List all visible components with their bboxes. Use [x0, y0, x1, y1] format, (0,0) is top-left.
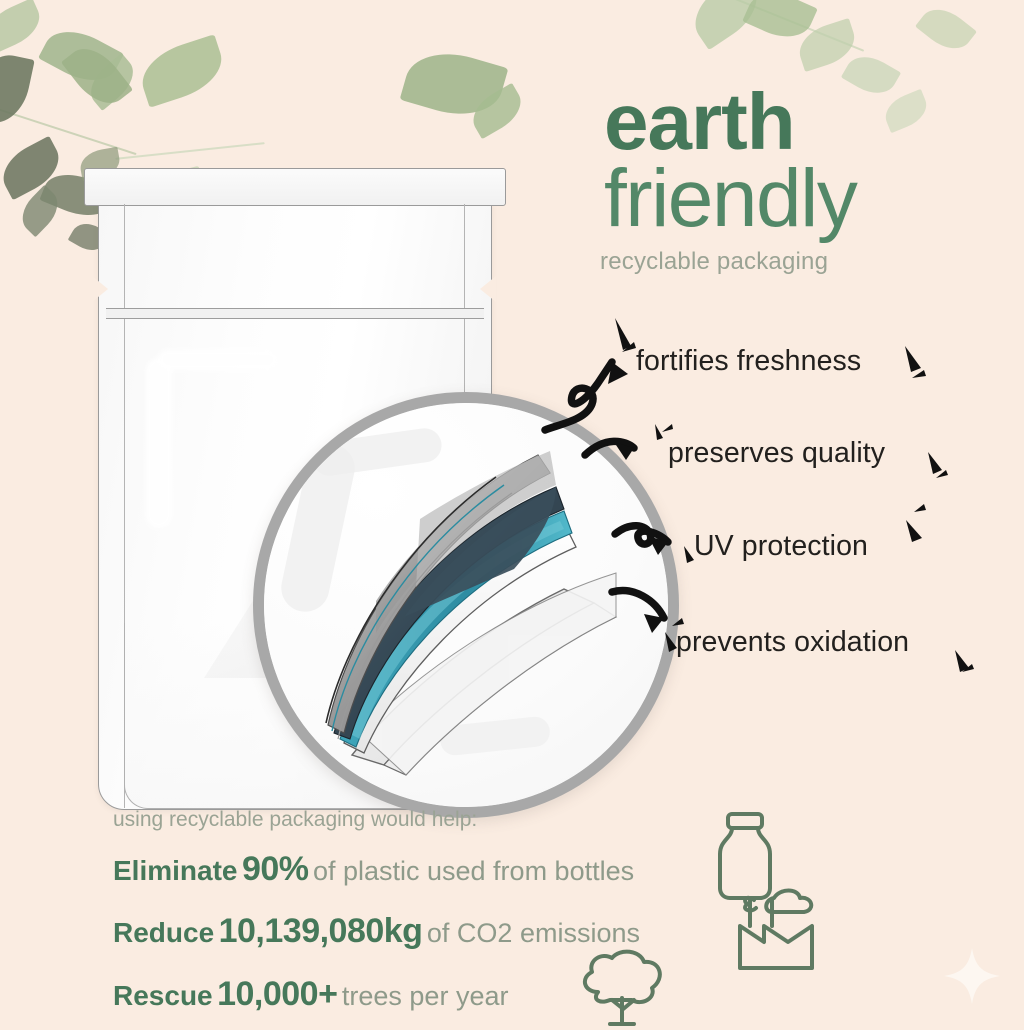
infographic-canvas: earth friendly recyclable packaging: [0, 0, 1024, 1024]
stat-verb: Rescue: [113, 980, 213, 1011]
pouch-zipper-line-top: [106, 308, 484, 309]
feature-label-uv-protection: UV protection: [694, 530, 868, 563]
stat-rest: trees per year: [342, 981, 509, 1011]
stat-value: 90%: [242, 850, 309, 888]
leaf-icon: [915, 0, 977, 58]
headline-friendly: friendly: [604, 158, 856, 240]
stat-rest: of CO2 emissions: [427, 918, 640, 948]
stats-intro: using recyclable packaging would help:: [113, 808, 477, 832]
stat-value: 10,000+: [217, 975, 337, 1013]
leaf-icon: [0, 0, 47, 54]
pouch-top-seal: [84, 168, 506, 206]
tree-icon: [568, 948, 676, 1030]
layer-cross-section-diagram: [264, 403, 668, 807]
leaf-icon: [880, 89, 932, 133]
feature-label-fortifies-freshness: fortifies freshness: [636, 345, 861, 378]
stat-rest: of plastic used from bottles: [313, 856, 634, 886]
stat-row-reduce: Reduce 10,139,080kg of CO2 emissions: [113, 912, 640, 951]
sparkle-star-icon: [940, 944, 1004, 1008]
headline-subtitle: recyclable packaging: [600, 248, 828, 276]
stat-value: 10,139,080kg: [219, 912, 423, 950]
arrowhead-1: [608, 362, 628, 384]
pouch-zipper-band: [106, 309, 484, 318]
feature-label-preserves-quality: preserves quality: [668, 437, 885, 470]
magnifier-lens: [264, 403, 668, 807]
pouch-highlight-left: [146, 358, 172, 528]
factory-icon: [728, 886, 824, 972]
magnifier-circle: [253, 392, 679, 818]
pouch-highlight-top: [158, 350, 278, 370]
leaf-icon: [841, 48, 901, 102]
headline-earth: earth: [604, 82, 795, 162]
stat-row-rescue: Rescue 10,000+ trees per year: [113, 975, 508, 1014]
feature-label-prevents-oxidation: prevents oxidation: [676, 626, 909, 659]
pouch-zipper-line-bottom: [106, 318, 484, 319]
stat-verb: Reduce: [113, 917, 214, 948]
stat-verb: Eliminate: [113, 855, 237, 886]
leaf-icon: [134, 34, 229, 108]
stat-row-eliminate: Eliminate 90% of plastic used from bottl…: [113, 850, 634, 889]
